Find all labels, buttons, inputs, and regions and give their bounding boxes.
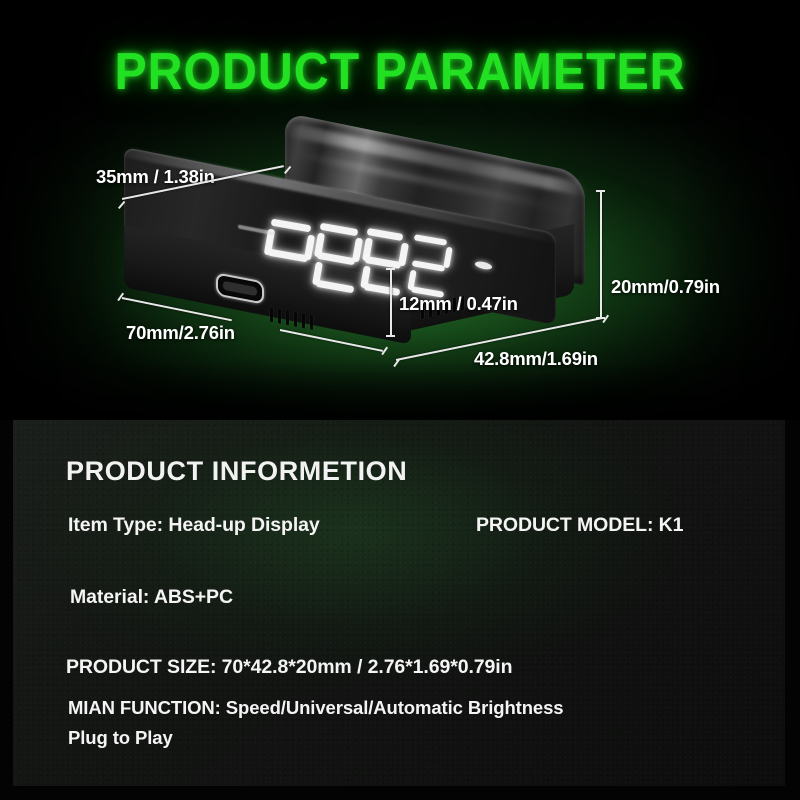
spec-material: Material: ABS+PC [70,586,233,609]
spec-main-function-line2: Plug to Play [68,727,173,749]
dimension-line-body-height [390,268,392,336]
dimension-label-width: 70mm/2.76in [126,322,235,344]
spec-product-model: PRODUCT MODEL: K1 [476,514,683,537]
dimension-tick-total-bottom [596,317,605,319]
spec-product-size: PRODUCT SIZE: 70*42.8*20mm / 2.76*1.69*0… [66,656,512,679]
dimension-tick-body-top [386,268,395,270]
page-title: PRODUCT PARAMETER [28,42,772,102]
spec-item-type: Item Type: Head-up Display [68,514,320,537]
dimension-label-body-height: 12mm / 0.47in [399,293,518,315]
dimension-tick-body-bottom [386,335,395,337]
dimension-tick-total-top [596,190,605,192]
product-information-panel: PRODUCT INFORMETION Item Type: Head-up D… [13,420,785,786]
dimension-label-length: 42.8mm/1.69in [474,348,598,370]
dimension-label-total-height: 20mm/0.79in [611,276,720,298]
dimension-line-total-height [600,190,602,318]
dimension-label-depth: 35mm / 1.38in [96,166,215,188]
product-information-title: PRODUCT INFORMETION [66,456,407,487]
spec-main-function: MIAN FUNCTION: Speed/Universal/Automatic… [68,697,564,719]
product-parameter-page: 35mm / 1.38in 70mm/2.76in 12mm / 0.47in … [0,0,800,800]
